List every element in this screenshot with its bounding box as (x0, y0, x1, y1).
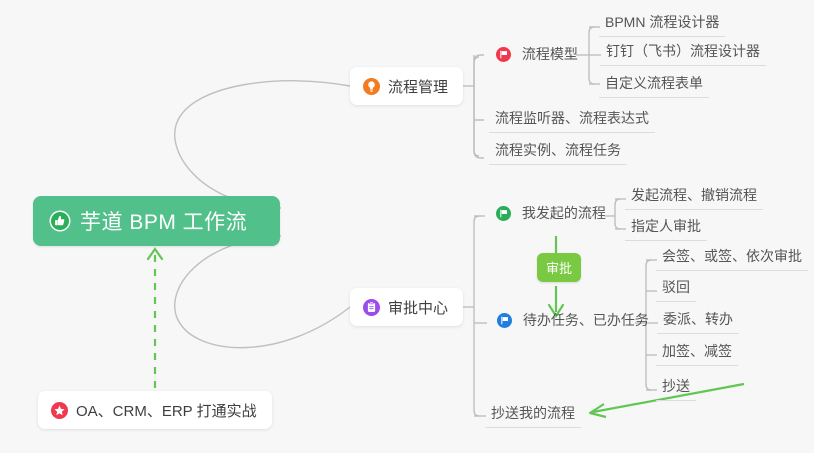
node-label: 指定人审批 (631, 217, 701, 235)
node-label: 抄送我的流程 (491, 404, 575, 422)
node-cc[interactable]: 抄送 (656, 376, 696, 401)
node-flow-listener[interactable]: 流程监听器、流程表达式 (489, 108, 655, 133)
node-custom-form[interactable]: 自定义流程表单 (599, 73, 709, 98)
flag-icon (497, 313, 512, 328)
node-label: 流程模型 (522, 45, 578, 63)
edge-flowmgr-bracket-main (474, 57, 479, 156)
node-flow-instance[interactable]: 流程实例、流程任务 (489, 140, 627, 165)
node-countersign[interactable]: 会签、或签、依次审批 (656, 246, 808, 271)
edge-flowmgr-bracket (474, 55, 484, 158)
flag-icon (496, 206, 511, 221)
star-icon (51, 402, 68, 419)
node-my-started-flows[interactable]: 我发起的流程 (490, 203, 612, 228)
edge-approval-bracket (474, 216, 479, 416)
edge-flowmodel-bracket (589, 27, 594, 84)
node-add-remove-sign[interactable]: 加签、减签 (656, 341, 738, 366)
node-label: 驳回 (662, 278, 690, 296)
edge-root-flow-management (175, 81, 350, 208)
node-label: 抄送 (662, 377, 690, 395)
node-flow-model[interactable]: 流程模型 (490, 44, 584, 69)
node-start-cancel-flow[interactable]: 发起流程、撤销流程 (625, 185, 763, 210)
node-dingtalk-feishu-designer[interactable]: 钉钉（飞书）流程设计器 (600, 41, 766, 66)
node-label: 自定义流程表单 (605, 74, 703, 92)
branch-approval-center[interactable]: 审批中心 (350, 288, 463, 326)
branch-label: 流程管理 (388, 76, 448, 97)
node-delegate-transfer[interactable]: 委派、转办 (657, 309, 739, 334)
root-node[interactable]: 芋道 BPM 工作流 (33, 196, 280, 246)
node-label: 流程实例、流程任务 (495, 141, 621, 159)
node-label: 待办任务、已办任务 (523, 311, 649, 329)
approval-badge: 审批 (537, 253, 581, 282)
flag-icon (496, 47, 511, 62)
dashed-arrow-head (148, 249, 162, 259)
node-label: 发起流程、撤销流程 (631, 186, 757, 204)
edge-root-approval-center (175, 236, 350, 348)
branch-flow-management[interactable]: 流程管理 (350, 67, 463, 105)
mindmap-canvas: 芋道 BPM 工作流 流程管理 审批中心 (0, 0, 814, 453)
approval-badge-label: 审批 (546, 261, 572, 276)
node-label: 会签、或签、依次审批 (662, 247, 802, 265)
node-label: 加签、减签 (662, 342, 732, 360)
edge-started-bracket (615, 199, 620, 229)
node-label: BPMN 流程设计器 (605, 13, 719, 31)
node-reject[interactable]: 驳回 (656, 277, 696, 302)
node-label: 委派、转办 (663, 310, 733, 328)
bottom-annotation-card[interactable]: OA、CRM、ERP 打通实战 (38, 391, 272, 429)
node-label: 我发起的流程 (522, 204, 606, 222)
thumbs-up-icon (49, 210, 71, 232)
arrow-cc-head (590, 404, 606, 417)
node-cc-to-me[interactable]: 抄送我的流程 (485, 403, 581, 428)
branch-label: 审批中心 (388, 297, 448, 318)
root-label: 芋道 BPM 工作流 (80, 206, 247, 236)
clipboard-icon (363, 299, 380, 316)
node-bpmn-designer[interactable]: BPMN 流程设计器 (599, 12, 725, 37)
bottom-annotation-label: OA、CRM、ERP 打通实战 (76, 400, 257, 421)
node-label: 钉钉（飞书）流程设计器 (606, 42, 760, 60)
node-todo-done-tasks[interactable]: 待办任务、已办任务 (491, 310, 655, 335)
node-assignee-approval[interactable]: 指定人审批 (625, 216, 707, 241)
node-label: 流程监听器、流程表达式 (495, 109, 649, 127)
lightbulb-icon (363, 78, 380, 95)
